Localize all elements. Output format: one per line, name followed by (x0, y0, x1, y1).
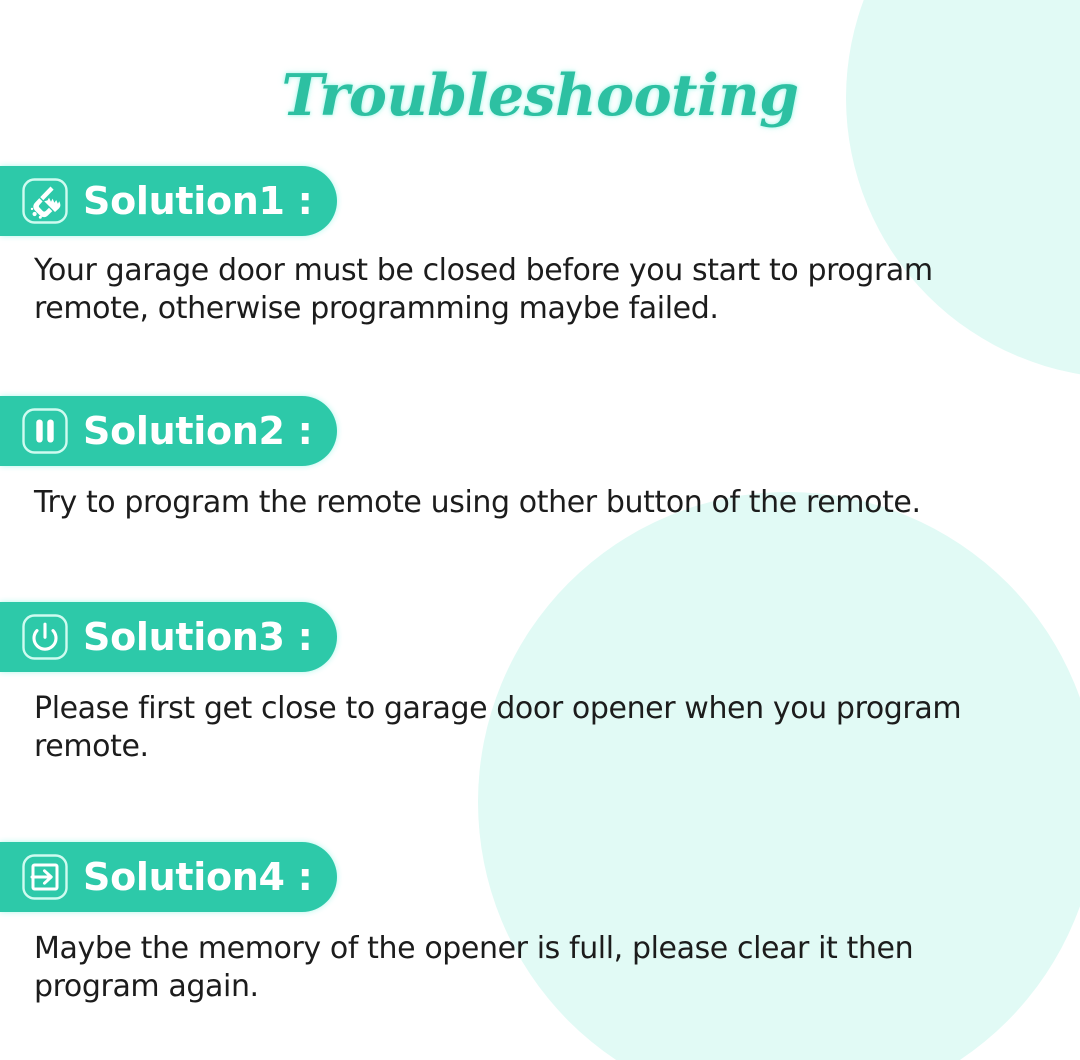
power-icon (20, 612, 70, 662)
solution-block-3: Solution3 : Please first get close to ga… (0, 602, 1080, 765)
solution-text-4: Maybe the memory of the opener is full, … (34, 930, 1024, 1005)
broom-icon (20, 176, 70, 226)
solution-badge-1: Solution1 : (0, 166, 337, 236)
solution-badge-3: Solution3 : (0, 602, 337, 672)
solution-label-3: Solution3 : (83, 618, 312, 656)
solution-badge-2: Solution2 : (0, 396, 337, 466)
solution-text-3: Please first get close to garage door op… (34, 690, 1024, 765)
solution-label-4: Solution4 : (83, 858, 312, 896)
solution-label-2: Solution2 : (83, 412, 312, 450)
solution-text-2: Try to program the remote using other bu… (34, 484, 1024, 522)
pause-icon (20, 406, 70, 456)
troubleshooting-page: Troubleshooting Solution1 : Yo (0, 0, 1080, 1060)
solution-block-1: Solution1 : Your garage door must be clo… (0, 166, 1080, 327)
page-title: Troubleshooting (0, 62, 1080, 129)
solution-text-1: Your garage door must be closed before y… (34, 252, 1024, 327)
arrow-into-box-icon (20, 852, 70, 902)
solution-badge-4: Solution4 : (0, 842, 337, 912)
solution-block-2: Solution2 : Try to program the remote us… (0, 396, 1080, 522)
solution-label-1: Solution1 : (83, 182, 312, 220)
solution-block-4: Solution4 : Maybe the memory of the open… (0, 842, 1080, 1005)
